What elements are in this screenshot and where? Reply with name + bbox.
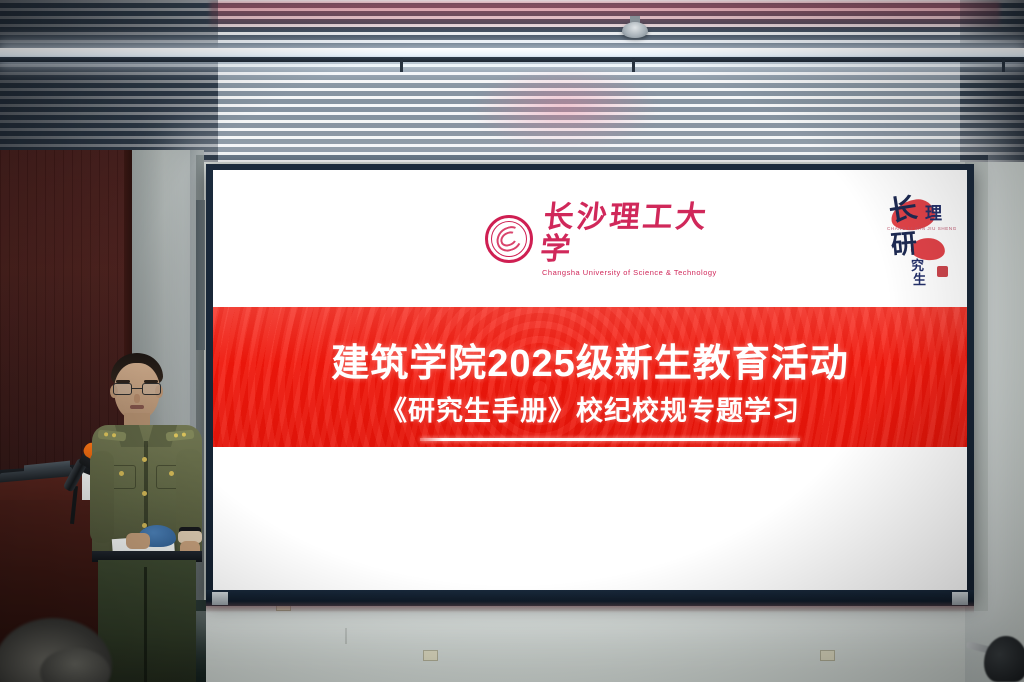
ceiling-slide-reflection	[470, 66, 660, 152]
calligraphy-mark-icon: 长 理 研 究 生 CHANG LI YAN JIU SHENG	[885, 194, 955, 290]
ceiling-louver-panel	[0, 0, 1024, 162]
university-logo: 长沙理工大学 Changsha University of Science & …	[485, 208, 735, 270]
ceiling-rail-drop	[400, 58, 403, 72]
speaker-nose	[134, 394, 140, 403]
slide-subtitle: 《研究生手册》校纪校规专题学习	[213, 389, 967, 428]
university-name-cn: 长沙理工大学	[539, 202, 739, 265]
calligraphy-char-1: 长	[887, 194, 919, 226]
equipment-silhouette	[984, 636, 1024, 682]
uniform-button	[142, 457, 147, 462]
speaker-mouth	[130, 405, 144, 409]
calligraphy-char-5: 生	[913, 274, 926, 287]
uniform-pocket-button	[169, 471, 174, 476]
speaker-trousers	[98, 560, 196, 682]
trouser-crease	[144, 567, 147, 682]
university-name-en: Changsha University of Science & Technol…	[542, 268, 735, 277]
calligraphy-seal-stamp	[937, 266, 948, 277]
screen-mount-bracket	[952, 592, 968, 605]
calligraphy-char-4: 究	[911, 260, 924, 273]
speaker-hand-left	[126, 533, 150, 549]
uniform-button	[142, 491, 147, 496]
speaker-person	[92, 345, 202, 682]
screen-drop-shadow	[206, 606, 974, 613]
ceiling-shadow-right	[960, 0, 1024, 162]
ceiling-rail-drop	[1002, 58, 1005, 72]
smoke-detector-icon	[622, 22, 648, 38]
wall-scuff	[345, 628, 347, 644]
speaker-arm-left	[90, 451, 114, 543]
slide-divider-rule	[420, 438, 800, 441]
photo-scene: 长沙理工大学 Changsha University of Science & …	[0, 0, 1024, 682]
ceiling-rail-drop	[632, 58, 635, 72]
university-seal-icon	[485, 215, 533, 263]
ceiling-red-banner-reflection	[210, 2, 1000, 28]
ceiling-rail	[0, 57, 1024, 62]
wall-outlet[interactable]	[820, 650, 835, 661]
screen-mount-bracket	[212, 592, 228, 605]
wall-outlet[interactable]	[423, 650, 438, 661]
university-name-block: 长沙理工大学 Changsha University of Science & …	[542, 202, 735, 277]
calligraphy-char-3: 研	[890, 231, 918, 259]
calligraphy-char-2: 理	[925, 206, 942, 223]
presentation-slide: 长沙理工大学 Changsha University of Science & …	[213, 170, 967, 590]
door-frame-edge	[196, 200, 205, 350]
slide-title: 建筑学院2025级新生教育活动	[213, 332, 967, 387]
projection-screen[interactable]: 长沙理工大学 Changsha University of Science & …	[213, 170, 967, 590]
screen-roller-casing	[206, 590, 974, 606]
slide-footer-area	[213, 447, 967, 590]
calligraphy-pinyin: CHANG LI YAN JIU SHENG	[887, 226, 931, 231]
uniform-pocket-button	[119, 471, 124, 476]
ceiling-shadow-left	[0, 0, 218, 162]
